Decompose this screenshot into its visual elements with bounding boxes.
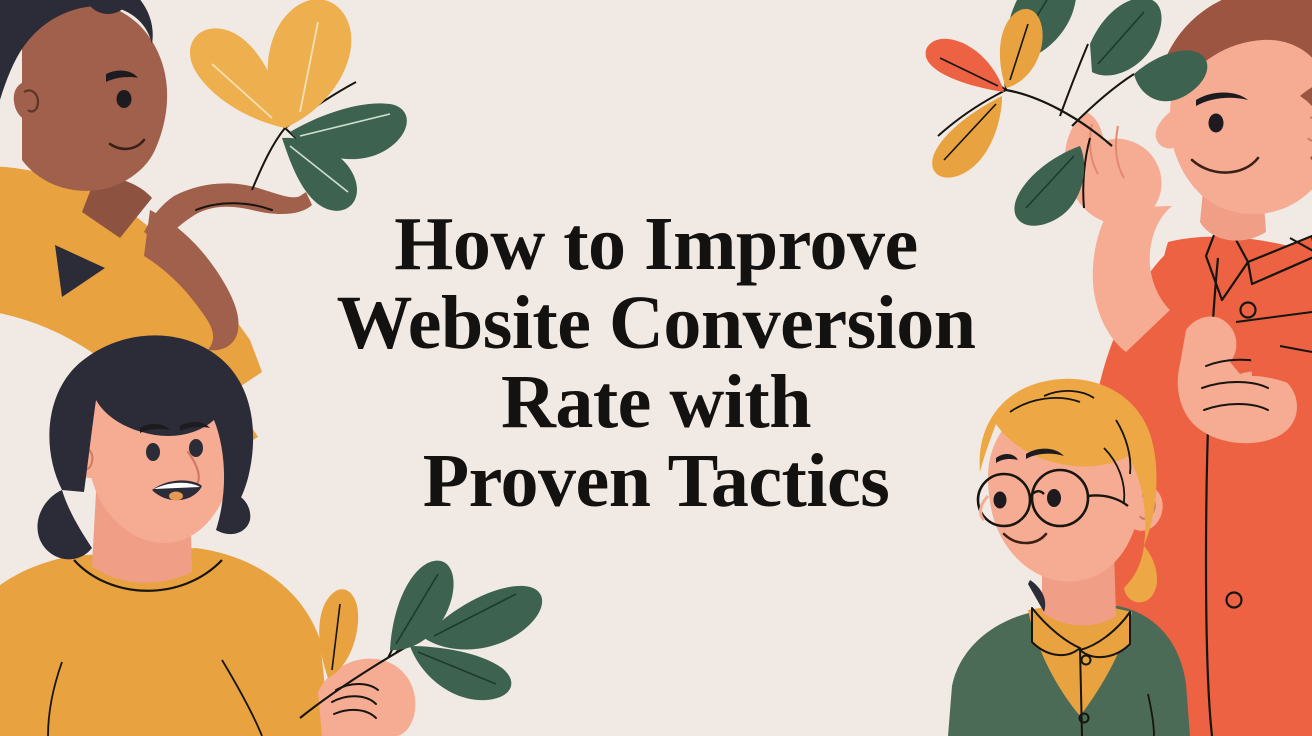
eye-right-bl [189, 439, 203, 457]
eye-left-bl [146, 443, 160, 461]
tongue-bottom-left [169, 492, 183, 501]
ear-right [1300, 104, 1312, 154]
eye-right-br [1047, 489, 1061, 507]
hero-banner: How to Improve Website Conversion Rate w… [0, 0, 1312, 736]
eye-top-left [117, 90, 132, 108]
eye-left-br [994, 492, 1007, 509]
decorative-illustration [0, 0, 1312, 736]
eye-right-fig [1209, 114, 1224, 133]
